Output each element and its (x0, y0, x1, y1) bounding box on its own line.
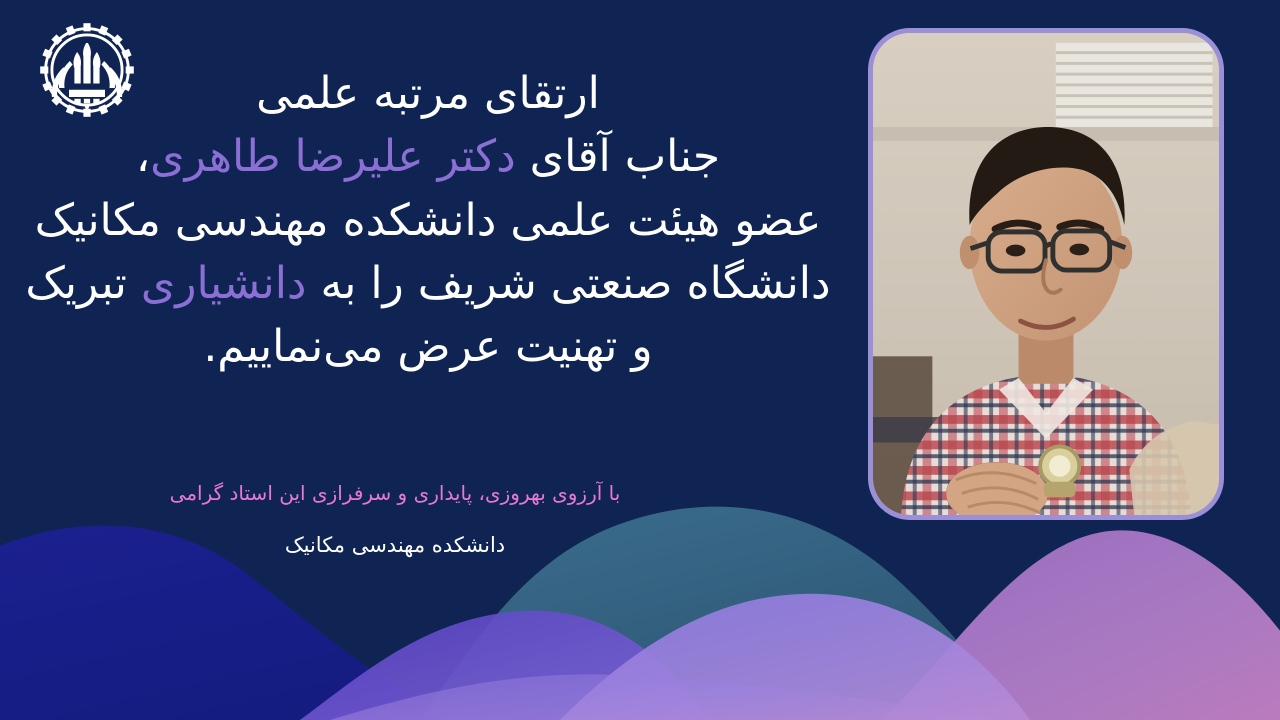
academic-rank: دانشیاری (141, 258, 307, 309)
message-line-1-text: ارتقای مرتبه علمی (256, 68, 600, 119)
wave-lavender-front (560, 594, 1030, 720)
message-line-5-text: و تهنیت عرض می‌نماییم. (203, 321, 652, 372)
portrait-illustration (873, 33, 1219, 515)
professor-portrait (868, 28, 1224, 520)
wristwatch-icon (1040, 446, 1079, 497)
message-line-3: عضو هیئت علمی دانشکده مهندسی مکانیک (0, 189, 856, 252)
message-line-5: و تهنیت عرض می‌نماییم. (0, 315, 856, 378)
message-line-4-prefix: دانشگاه صنعتی شریف را به (307, 258, 831, 309)
professor-name: دکتر علیرضا طاهری (150, 131, 516, 182)
wave-violet-mid (300, 611, 710, 720)
message-line-2-suffix: ، (136, 131, 150, 182)
footer-block: با آرزوی بهروزی، پایداری و سرفرازی این ا… (0, 478, 790, 562)
sharif-university-logo (33, 16, 141, 124)
message-line-4-suffix: تبریک (25, 258, 140, 309)
message-line-4: دانشگاه صنعتی شریف را به دانشیاری تبریک (0, 252, 856, 315)
message-line-3-text: عضو هیئت علمی دانشکده مهندسی مکانیک (35, 195, 822, 246)
footer-wish-text: با آرزوی بهروزی، پایداری و سرفرازی این ا… (0, 478, 790, 508)
wave-lavender-foreground (330, 674, 1010, 720)
window-blinds (1056, 43, 1213, 127)
announcement-poster: ارتقای مرتبه علمی جناب آقای دکتر علیرضا … (0, 0, 1280, 720)
wave-orchid-right (880, 530, 1280, 720)
footer-department-name: دانشکده مهندسی مکانیک (0, 530, 790, 562)
message-line-2: جناب آقای دکتر علیرضا طاهری، (0, 125, 856, 188)
message-line-2-prefix: جناب آقای (516, 131, 720, 182)
tulip-emblem-icon (52, 43, 122, 109)
